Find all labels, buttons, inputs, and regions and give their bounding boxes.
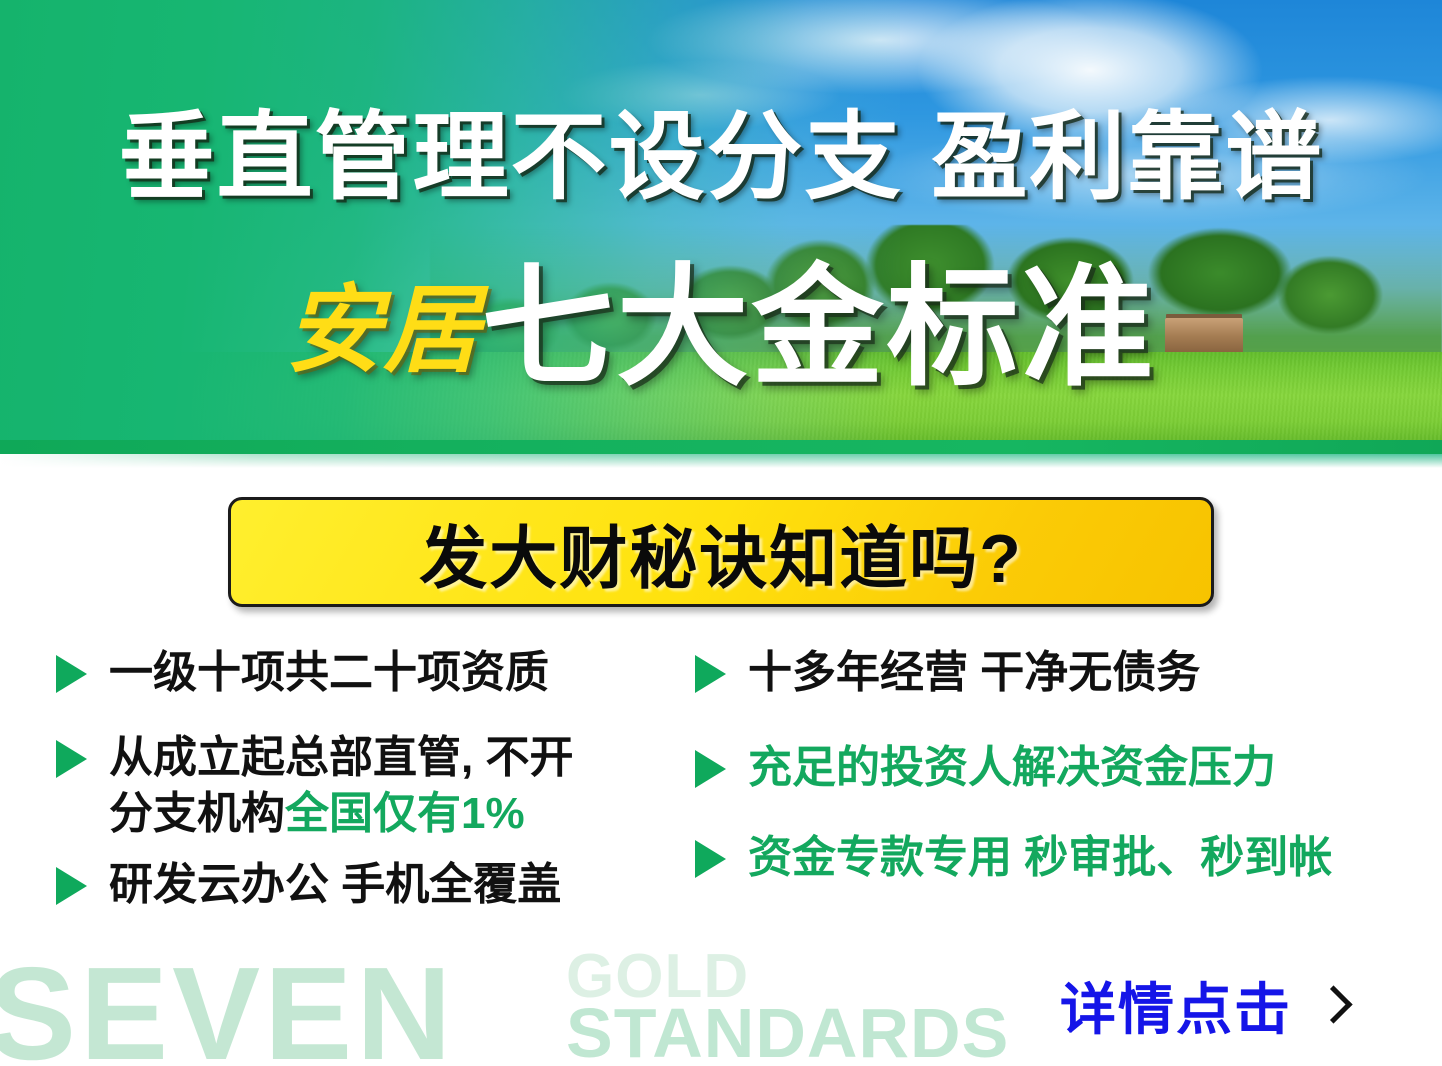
feature-text-right-2: 充足的投资人解决资金压力 <box>748 740 1276 795</box>
list-item: 从成立起总部直管, 不开 分支机构全国仅有1% <box>56 730 686 841</box>
details-cta-button[interactable]: 详情点击 <box>1060 965 1344 1046</box>
hero-bottom-green-bar <box>0 440 1442 454</box>
feature-text-left-2-line2-green: 全国仅有1% <box>285 789 525 838</box>
triangle-right-icon <box>56 867 87 905</box>
triangle-right-icon <box>695 750 726 788</box>
triangle-right-icon <box>56 655 87 693</box>
hero-headline-main: 七大金标准 <box>482 254 1157 401</box>
feature-column-left: 一级十项共二十项资质 从成立起总部直管, 不开 分支机构全国仅有1% 研发云办公… <box>56 645 686 935</box>
feature-text-left-1: 一级十项共二十项资质 <box>109 645 549 700</box>
hero-headline-secondary: 安居七大金标准 <box>0 262 1442 394</box>
list-item: 一级十项共二十项资质 <box>56 645 686 700</box>
feature-column-right: 十多年经营 干净无债务 充足的投资人解决资金压力 资金专款专用 秒审批、秒到帐 <box>695 645 1415 907</box>
hero-section: 垂直管理不设分支 盈利靠谱 安居七大金标准 <box>0 0 1442 468</box>
list-item: 资金专款专用 秒审批、秒到帐 <box>695 830 1415 885</box>
feature-text-left-2-line2-black: 分支机构 <box>109 789 285 838</box>
feature-text-left-2: 从成立起总部直管, 不开 分支机构全国仅有1% <box>109 730 573 841</box>
yellow-banner-text: 发大财秘诀知道吗? <box>419 503 1023 602</box>
feature-list: 一级十项共二十项资质 从成立起总部直管, 不开 分支机构全国仅有1% 研发云办公… <box>0 645 1442 985</box>
hero-headline-primary: 垂直管理不设分支 盈利靠谱 <box>0 110 1442 206</box>
headline-yellow-banner[interactable]: 发大财秘诀知道吗? <box>228 497 1214 607</box>
advertisement-banner: 垂直管理不设分支 盈利靠谱 安居七大金标准 发大财秘诀知道吗? SEVEN GO… <box>0 0 1442 1066</box>
feature-text-left-3: 研发云办公 手机全覆盖 <box>109 857 561 912</box>
feature-text-right-1: 十多年经营 干净无债务 <box>748 645 1200 700</box>
list-item: 充足的投资人解决资金压力 <box>695 740 1415 795</box>
hero-headline-brand: 安居 <box>286 277 482 384</box>
feature-text-left-2-line1: 从成立起总部直管, 不开 <box>109 733 573 782</box>
triangle-right-icon <box>695 655 726 693</box>
feature-text-right-3: 资金专款专用 秒审批、秒到帐 <box>748 830 1332 885</box>
triangle-right-icon <box>56 740 87 778</box>
list-item: 十多年经营 干净无债务 <box>695 645 1415 700</box>
list-item: 研发云办公 手机全覆盖 <box>56 857 686 912</box>
details-cta-label: 详情点击 <box>1060 965 1292 1046</box>
chevron-right-icon <box>1318 983 1344 1029</box>
watermark-standards: STANDARDS <box>566 998 1009 1066</box>
triangle-right-icon <box>695 840 726 878</box>
hero-bottom-fade <box>0 454 1442 468</box>
